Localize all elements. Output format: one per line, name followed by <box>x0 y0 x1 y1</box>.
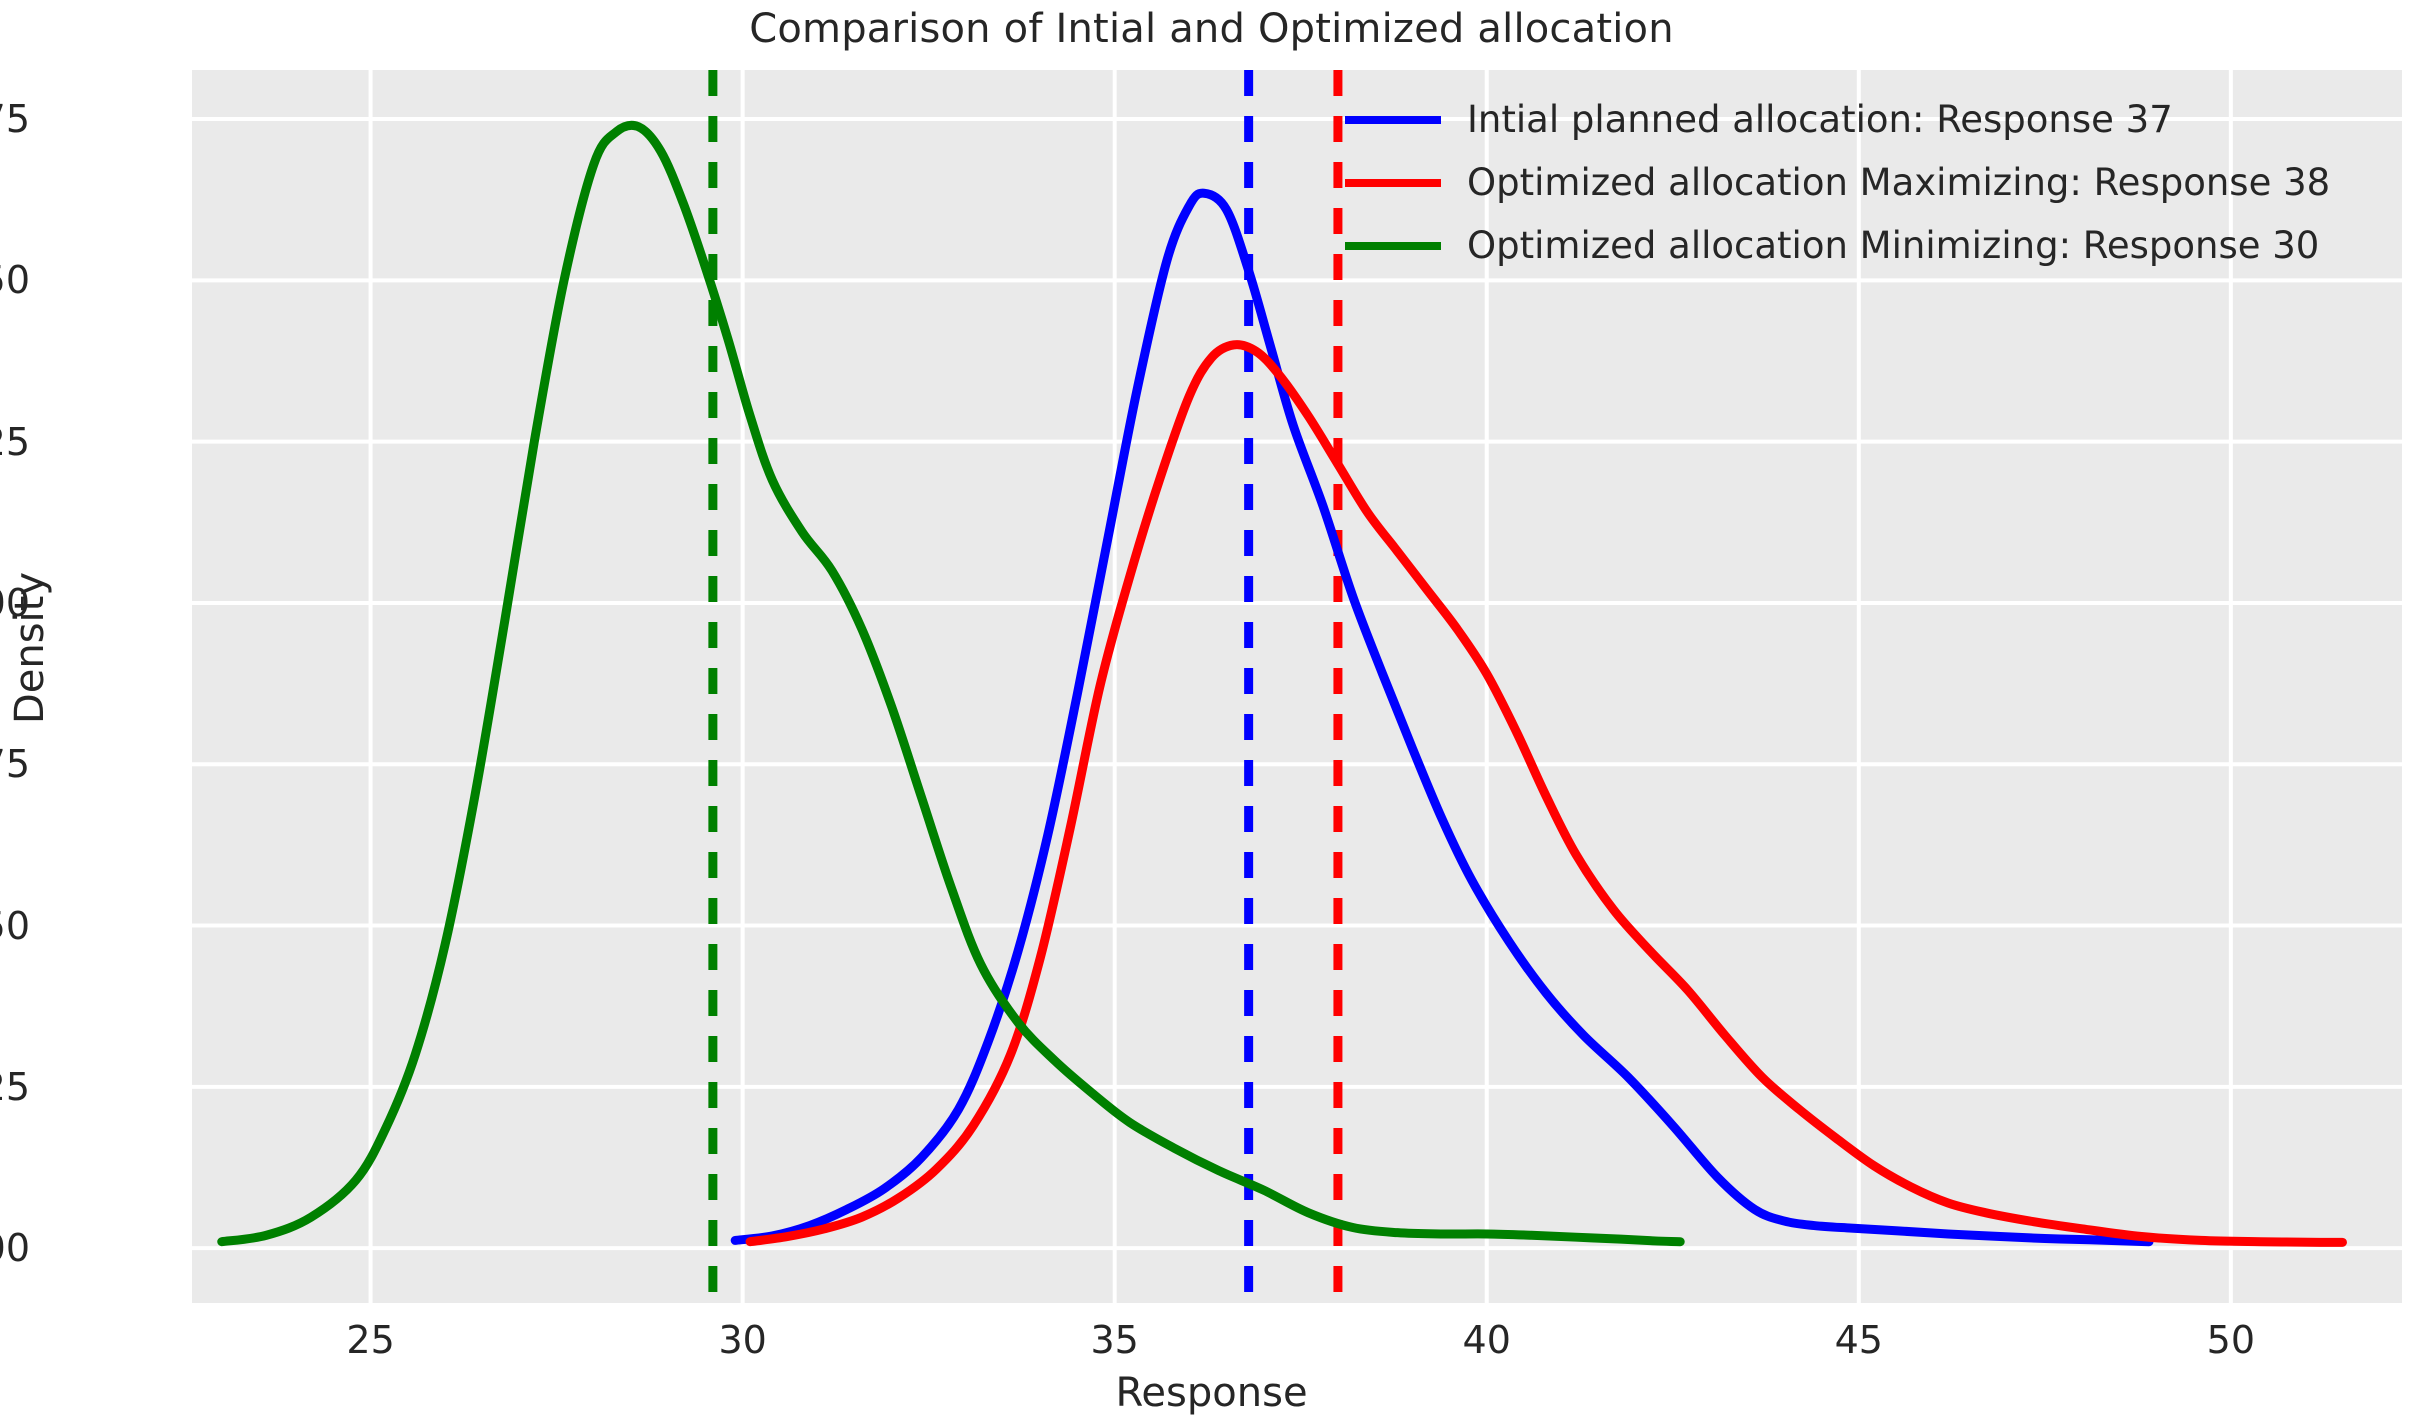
x-tick-label: 45 <box>1779 1318 1939 1362</box>
density-curves <box>222 125 2343 1242</box>
legend-item-1[interactable]: Intial planned allocation: Response 37 <box>1345 88 2385 151</box>
horizontal-gridlines <box>192 119 2402 1248</box>
density-curve-1 <box>735 193 2149 1242</box>
legend-swatch-icon <box>1345 179 1441 187</box>
x-tick-label: 25 <box>291 1318 451 1362</box>
x-tick-label: 50 <box>2151 1318 2311 1362</box>
density-plot-figure: Comparison of Intial and Optimized alloc… <box>0 0 2423 1423</box>
chart-legend: Intial planned allocation: Response 37Op… <box>1345 88 2385 277</box>
y-tick-label: 0.150 <box>0 258 30 302</box>
density-curve-3 <box>222 125 1680 1241</box>
density-curve-2 <box>750 345 2342 1243</box>
legend-item-3[interactable]: Optimized allocation Minimizing: Respons… <box>1345 214 2385 277</box>
chart-title: Comparison of Intial and Optimized alloc… <box>0 6 2423 52</box>
legend-swatch-icon <box>1345 242 1441 250</box>
y-tick-label: 0.175 <box>0 97 30 141</box>
legend-item-label: Optimized allocation Maximizing: Respons… <box>1467 161 2330 204</box>
legend-item-label: Optimized allocation Minimizing: Respons… <box>1467 224 2319 267</box>
legend-swatch-icon <box>1345 116 1441 124</box>
x-axis-label: Response <box>0 1370 2423 1416</box>
x-tick-label: 35 <box>1035 1318 1195 1362</box>
x-tick-label: 40 <box>1407 1318 1567 1362</box>
y-tick-label: 0.000 <box>0 1226 30 1270</box>
y-tick-label: 0.025 <box>0 1065 30 1109</box>
legend-item-2[interactable]: Optimized allocation Maximizing: Respons… <box>1345 151 2385 214</box>
x-tick-label: 30 <box>663 1318 823 1362</box>
legend-item-label: Intial planned allocation: Response 37 <box>1467 98 2173 141</box>
y-axis-label: Density <box>7 328 53 968</box>
